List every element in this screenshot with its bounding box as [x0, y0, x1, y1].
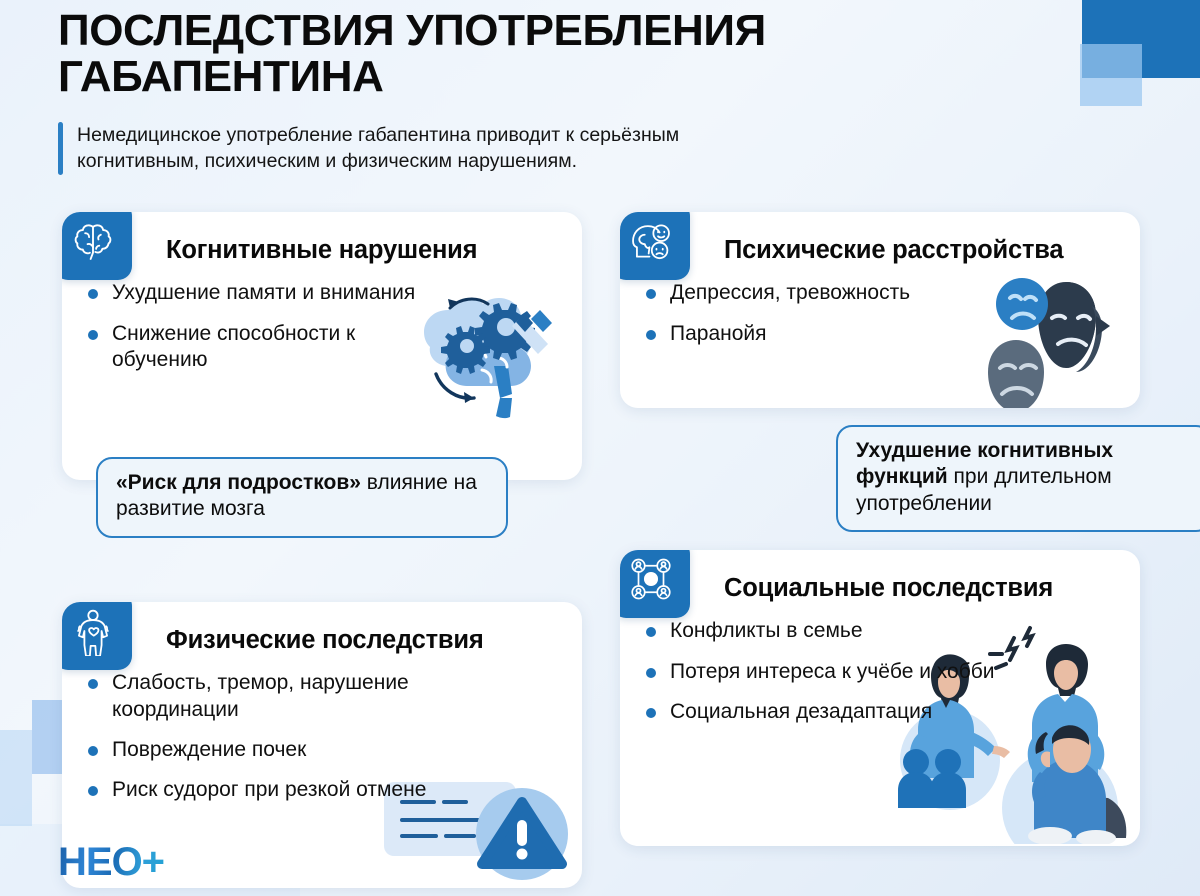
callout-bold-text: «Риск для подростков»	[116, 471, 361, 494]
people-network-icon	[620, 550, 690, 618]
card-title: Социальные последствия	[724, 568, 1118, 602]
card-title: Физические последствия	[166, 620, 560, 654]
bullet-list: Конфликты в семье Потеря интереса к учёб…	[642, 618, 1118, 725]
decorative-square-top-right-light	[1080, 44, 1142, 106]
list-item: Конфликты в семье	[642, 618, 1002, 644]
head-emotions-icon	[620, 212, 690, 280]
list-item: Депрессия, тревожность	[642, 280, 1002, 306]
bullet-list: Депрессия, тревожность Паранойя	[642, 280, 1118, 347]
subtitle-block: Немедицинское употребление габапентина п…	[58, 122, 1060, 176]
card-cognitive[interactable]: Когнитивные нарушения	[62, 212, 582, 480]
list-item: Слабость, тремор, нарушение координации	[84, 670, 444, 723]
column-right: Психические расстройства	[620, 212, 1140, 846]
subtitle-accent-bar	[58, 122, 63, 176]
list-item: Риск судорог при резкой отмене	[84, 777, 444, 803]
card-mental[interactable]: Психические расстройства	[620, 212, 1140, 408]
brain-icon	[62, 212, 132, 280]
callout-cognitive-decline[interactable]: Ухудшение когнитивных функций при длител…	[836, 425, 1200, 532]
card-title: Психические расстройства	[724, 230, 1118, 264]
header: ПОСЛЕДСТВИЯ УПОТРЕБЛЕНИЯ ГАБАПЕНТИНА Нем…	[58, 8, 1060, 175]
list-item: Повреждение почек	[84, 737, 444, 763]
brand-logo: НЕО+	[58, 842, 164, 882]
bullet-list: Слабость, тремор, нарушение координации …	[84, 670, 560, 804]
list-item: Социальная дезадаптация	[642, 699, 1002, 725]
card-title: Когнитивные нарушения	[166, 230, 560, 264]
page-subtitle: Немедицинское употребление габапентина п…	[77, 122, 797, 176]
decorative-square-bottom-left-a	[0, 730, 32, 826]
bullet-list: Ухудшение памяти и внимания Снижение спо…	[84, 280, 560, 373]
body-organs-icon	[62, 602, 132, 670]
callout-teen-risk[interactable]: «Риск для подростков» влияние на развити…	[96, 457, 508, 538]
column-left: Когнитивные нарушения	[62, 212, 582, 888]
list-item: Потеря интереса к учёбе и хобби	[642, 659, 1002, 685]
card-social[interactable]: Социальные последствия	[620, 550, 1140, 846]
page-title: ПОСЛЕДСТВИЯ УПОТРЕБЛЕНИЯ ГАБАПЕНТИНА	[58, 8, 1060, 100]
list-item: Паранойя	[642, 321, 1002, 347]
list-item: Снижение способности к обучению	[84, 321, 444, 374]
list-item: Ухудшение памяти и внимания	[84, 280, 444, 306]
